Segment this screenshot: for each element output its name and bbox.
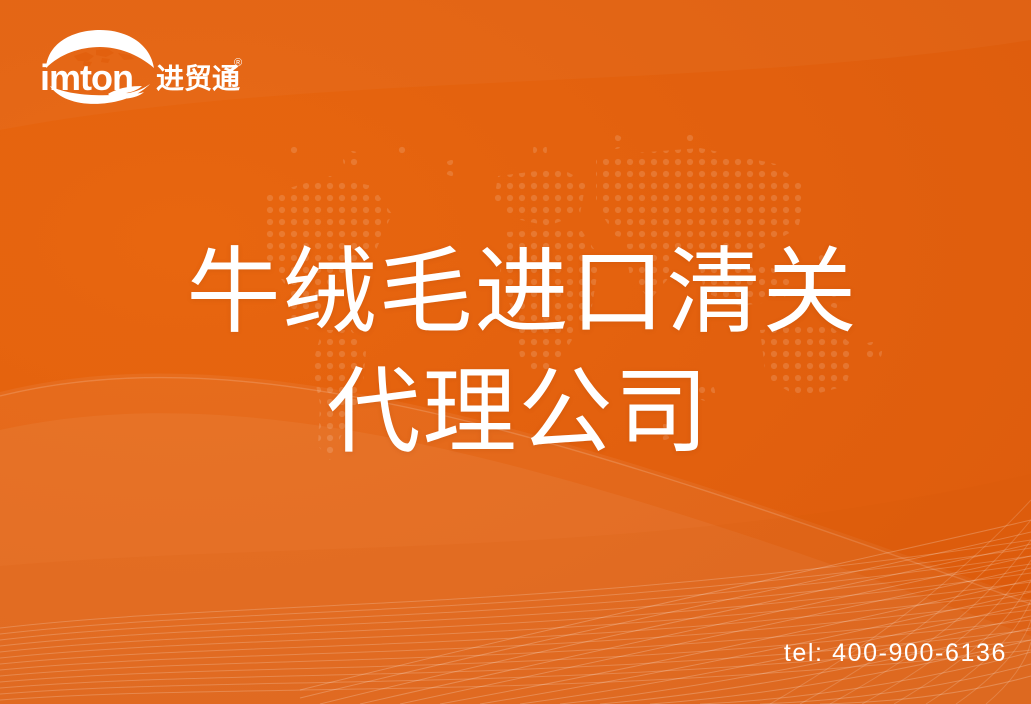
logo-artwork: imton 进贸通 ® [38, 28, 248, 106]
headline-line-2: 代理公司 [0, 352, 1031, 472]
logo-trademark-symbol: ® [234, 57, 242, 69]
contact-phone[interactable]: tel: 400-900-6136 [784, 639, 1007, 668]
headline-line-1: 牛绒毛进口清关 [0, 232, 1031, 352]
logo-chinese-name: 进贸通 [156, 62, 240, 95]
headline: 牛绒毛进口清关 代理公司 [0, 232, 1031, 473]
promo-banner: imton 进贸通 ® 牛绒毛进口清关 代理公司 tel: 400-900-61… [0, 0, 1031, 704]
imton-logo[interactable]: imton 进贸通 ® [38, 28, 248, 106]
